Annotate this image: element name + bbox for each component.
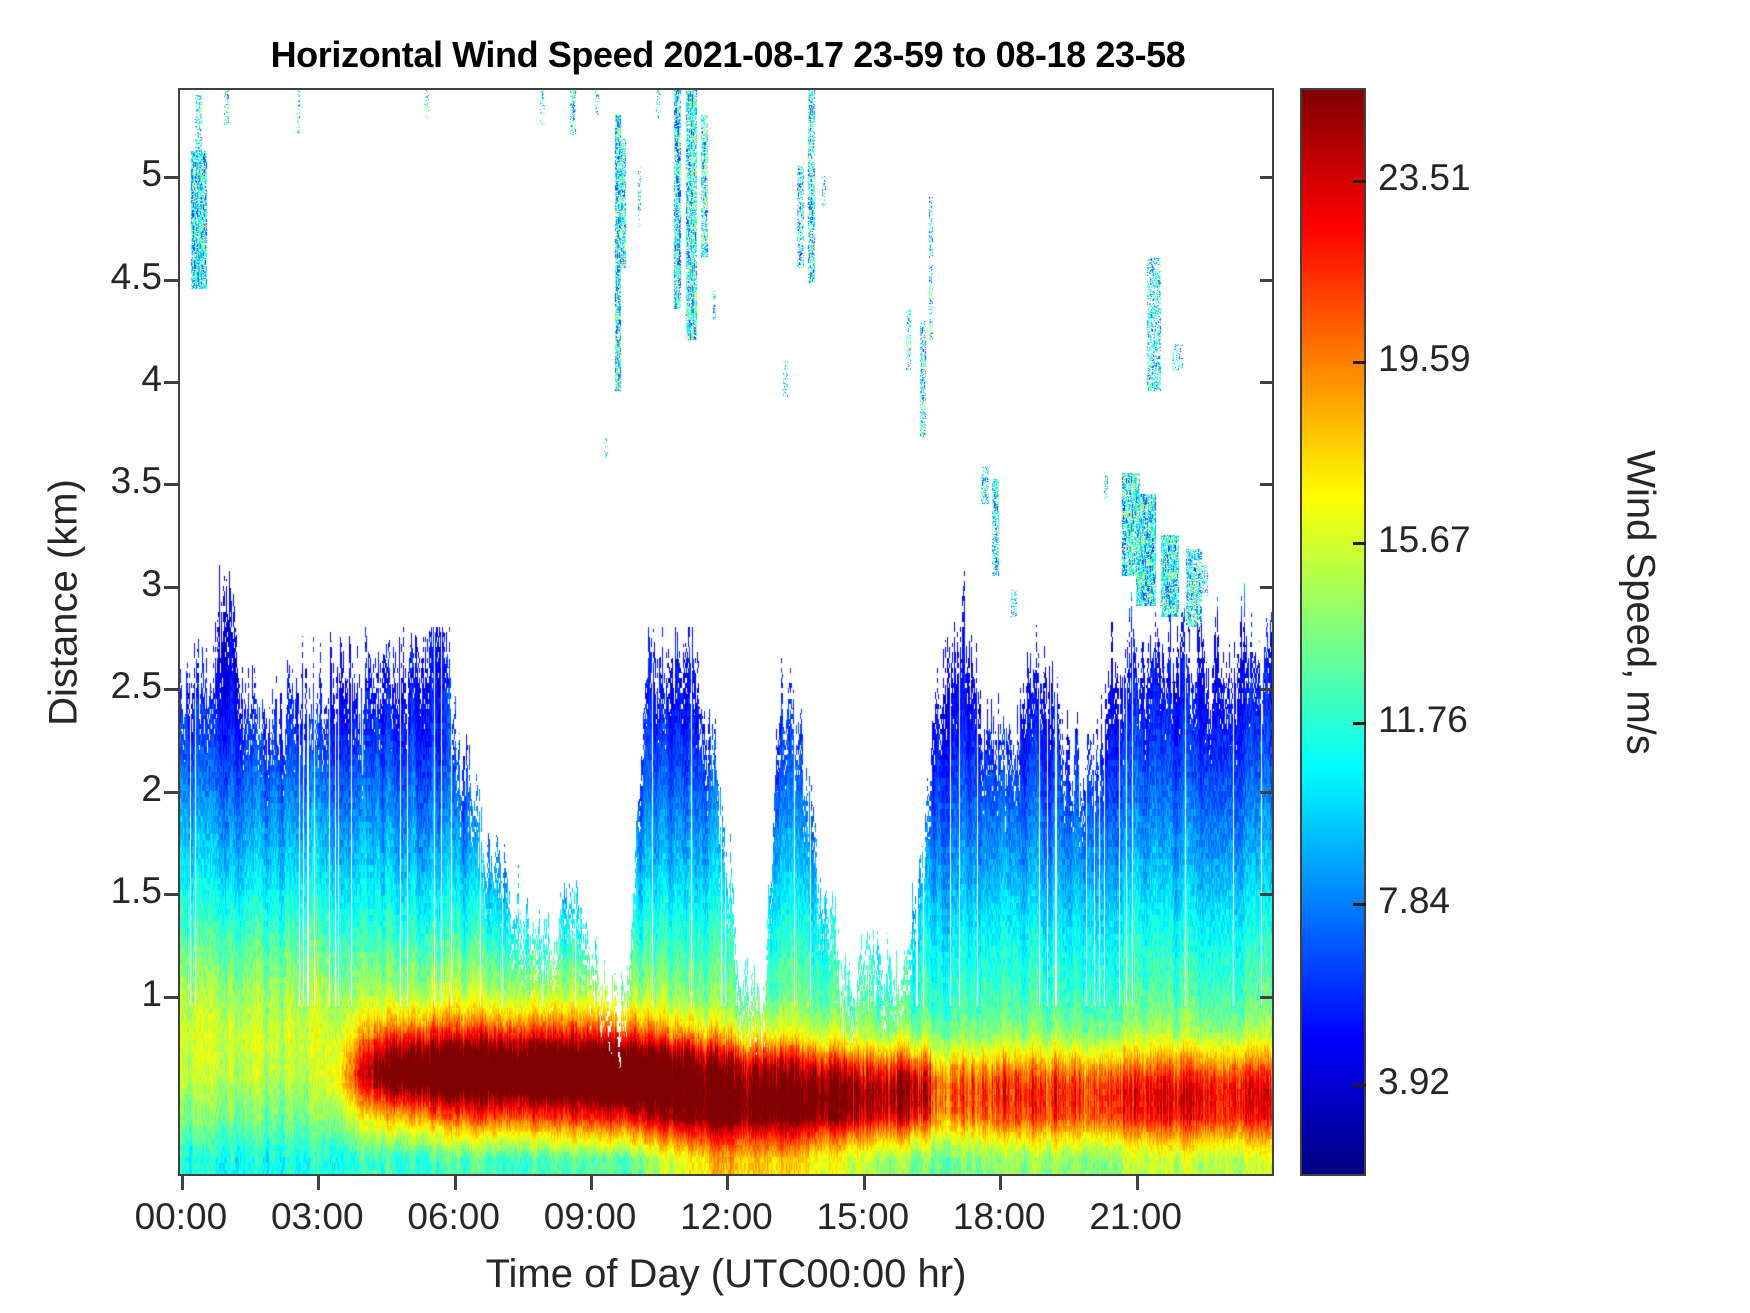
colorbar-tick-mark bbox=[1353, 903, 1366, 906]
y-tick-mark bbox=[164, 586, 178, 589]
y-tick-label: 2 bbox=[141, 770, 162, 807]
colorbar-tick-label: 7.84 bbox=[1378, 882, 1450, 919]
x-tick-mark bbox=[726, 1176, 729, 1190]
x-tick-label: 15:00 bbox=[817, 1198, 910, 1235]
colorbar-tick-mark bbox=[1353, 542, 1366, 545]
x-tick-label: 09:00 bbox=[544, 1198, 637, 1235]
x-tick-mark bbox=[317, 1176, 320, 1190]
colorbar[interactable] bbox=[1300, 88, 1366, 1176]
y-tick-label: 3.5 bbox=[111, 462, 162, 499]
heatmap-axes[interactable] bbox=[178, 88, 1274, 1176]
y-tick-label: 1 bbox=[141, 975, 162, 1012]
colorbar-tick-label: 11.76 bbox=[1378, 701, 1468, 738]
y-tick-mark bbox=[164, 483, 178, 486]
y-tick-mark-right bbox=[1260, 688, 1274, 691]
y-tick-mark-right bbox=[1260, 176, 1274, 179]
y-tick-mark bbox=[164, 791, 178, 794]
x-tick-mark bbox=[181, 1176, 184, 1190]
y-tick-mark-right bbox=[1260, 893, 1274, 896]
y-tick-mark bbox=[164, 893, 178, 896]
colorbar-tick-mark bbox=[1353, 180, 1366, 183]
y-tick-mark bbox=[164, 176, 178, 179]
y-tick-label: 5 bbox=[141, 155, 162, 192]
x-tick-mark bbox=[863, 1176, 866, 1190]
heatmap-canvas[interactable] bbox=[180, 90, 1272, 1174]
colorbar-tick-label: 15.67 bbox=[1378, 521, 1471, 558]
colorbar-tick-mark bbox=[1353, 1084, 1366, 1087]
x-tick-label: 06:00 bbox=[407, 1198, 500, 1235]
x-tick-label: 12:00 bbox=[680, 1198, 773, 1235]
colorbar-tick-label: 23.51 bbox=[1378, 159, 1471, 196]
y-tick-mark-right bbox=[1260, 791, 1274, 794]
y-tick-label: 1.5 bbox=[111, 872, 162, 909]
wind-speed-figure: Horizontal Wind Speed 2021-08-17 23-59 t… bbox=[0, 0, 1750, 1313]
colorbar-gradient bbox=[1302, 90, 1364, 1174]
colorbar-label: Wind Speed, m/s bbox=[1618, 323, 1663, 883]
x-tick-mark bbox=[454, 1176, 457, 1190]
y-tick-label: 2.5 bbox=[111, 667, 162, 704]
y-tick-mark bbox=[164, 996, 178, 999]
y-tick-mark-right bbox=[1260, 996, 1274, 999]
y-tick-mark-right bbox=[1260, 483, 1274, 486]
x-tick-label: 18:00 bbox=[953, 1198, 1046, 1235]
x-tick-mark bbox=[1136, 1176, 1139, 1190]
colorbar-tick-label: 3.92 bbox=[1378, 1063, 1450, 1100]
y-tick-mark-right bbox=[1260, 381, 1274, 384]
y-tick-mark-right bbox=[1260, 279, 1274, 282]
colorbar-tick-mark bbox=[1353, 722, 1366, 725]
colorbar-tick-mark bbox=[1353, 361, 1366, 364]
colorbar-tick-label: 19.59 bbox=[1378, 340, 1471, 377]
y-axis-label: Distance (km) bbox=[42, 363, 87, 843]
x-tick-mark bbox=[590, 1176, 593, 1190]
x-tick-mark bbox=[999, 1176, 1002, 1190]
x-axis-label: Time of Day (UTC00:00 hr) bbox=[178, 1252, 1274, 1297]
x-tick-label: 03:00 bbox=[271, 1198, 364, 1235]
y-tick-mark bbox=[164, 688, 178, 691]
y-tick-label: 3 bbox=[141, 565, 162, 602]
y-tick-label: 4 bbox=[141, 360, 162, 397]
page-title: Horizontal Wind Speed 2021-08-17 23-59 t… bbox=[180, 34, 1276, 76]
y-tick-mark bbox=[164, 279, 178, 282]
y-tick-label: 4.5 bbox=[111, 258, 162, 295]
y-tick-mark-right bbox=[1260, 586, 1274, 589]
x-tick-label: 00:00 bbox=[135, 1198, 228, 1235]
x-tick-label: 21:00 bbox=[1089, 1198, 1182, 1235]
y-tick-mark bbox=[164, 381, 178, 384]
